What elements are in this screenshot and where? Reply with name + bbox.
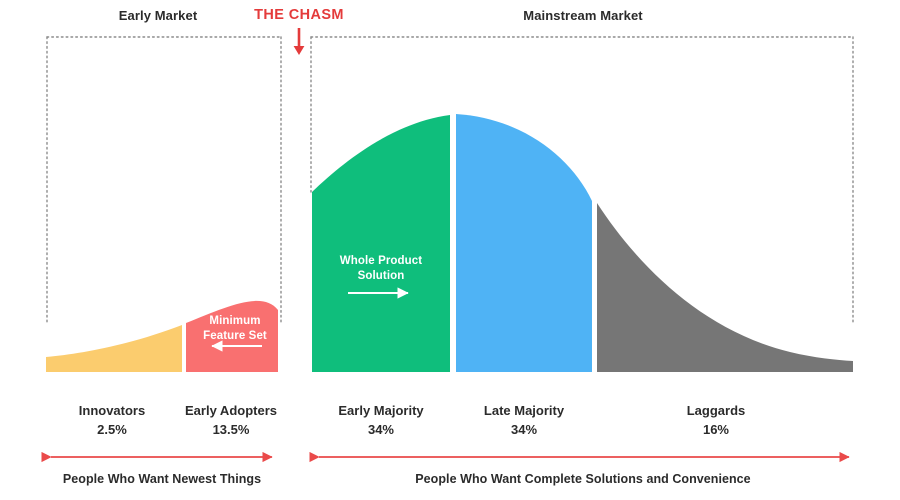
callout-line1: Minimum (209, 315, 260, 327)
callout-line2: Solution (358, 270, 405, 282)
arrow-down-icon (294, 28, 305, 55)
footer-label-complete-solutions: People Who Want Complete Solutions and C… (415, 472, 750, 486)
callout-line2: Feature Set (203, 330, 267, 342)
segment-percent: 34% (338, 420, 423, 439)
segment-label-innovators: Innovators 2.5% (79, 401, 145, 439)
segment-name: Late Majority (484, 401, 564, 420)
area-late-majority (456, 114, 592, 372)
segment-percent: 2.5% (79, 420, 145, 439)
segment-name: Laggards (687, 401, 746, 420)
area-laggards (597, 203, 853, 372)
segment-percent: 34% (484, 420, 564, 439)
segment-name: Early Majority (338, 401, 423, 420)
segment-label-early-adopters: Early Adopters 13.5% (185, 401, 277, 439)
segment-label-laggards: Laggards 16% (687, 401, 746, 439)
chasm-label: THE CHASM (254, 7, 344, 23)
area-early-majority (312, 115, 450, 372)
callout-minimum-feature-set: Minimum Feature Set (203, 314, 267, 344)
callout-line1: Whole Product (340, 255, 422, 267)
segment-percent: 13.5% (185, 420, 277, 439)
callout-whole-product-solution: Whole Product Solution (340, 254, 422, 284)
footer-label-newest-things: People Who Want Newest Things (63, 472, 261, 486)
adoption-lifecycle-diagram: Early Market Mainstream Market THE CHASM… (0, 0, 900, 500)
segment-percent: 16% (687, 420, 746, 439)
segment-label-late-majority: Late Majority 34% (484, 401, 564, 439)
segment-label-early-majority: Early Majority 34% (338, 401, 423, 439)
market-label-early-market: Early Market (119, 8, 198, 23)
area-innovators (46, 325, 182, 372)
segment-name: Early Adopters (185, 401, 277, 420)
segment-name: Innovators (79, 401, 145, 420)
market-label-mainstream-market: Mainstream Market (523, 8, 642, 23)
